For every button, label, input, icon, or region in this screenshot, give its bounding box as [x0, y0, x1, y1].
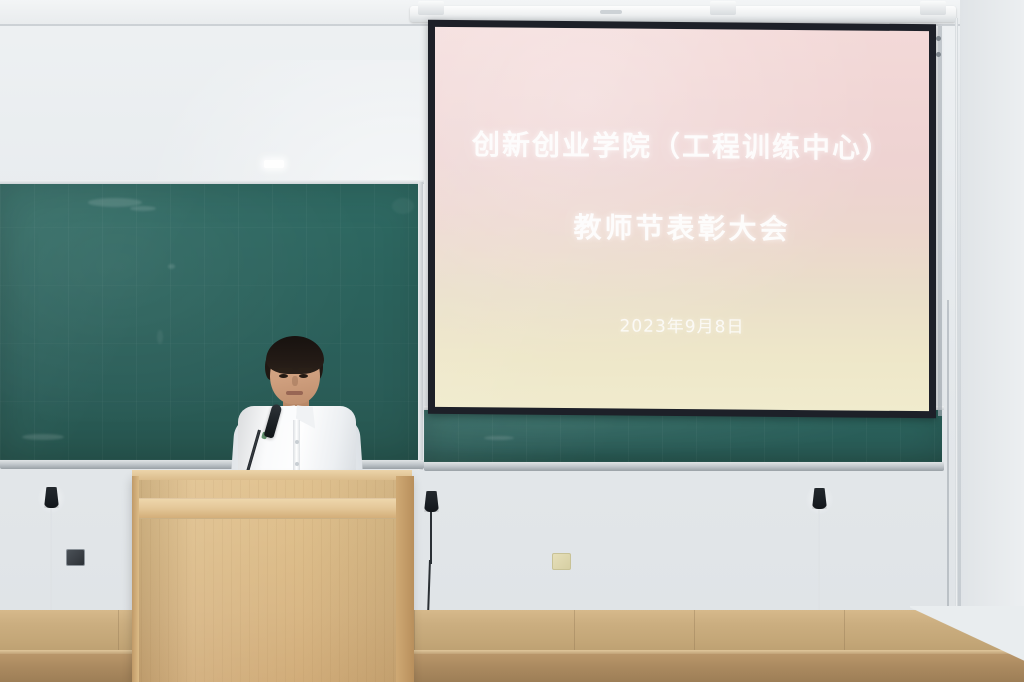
wall-outlet-right[interactable]: [552, 553, 571, 570]
podium-left-edge: [132, 476, 139, 682]
screen-side-rail: [938, 26, 942, 416]
wall-reflection-highlight: [264, 160, 284, 168]
screen-bracket-right: [920, 1, 946, 15]
nose: [292, 376, 298, 386]
eye-right: [299, 374, 308, 378]
wall-conduit-right: [955, 18, 958, 616]
chalk-smudge: [130, 206, 156, 211]
eye-left: [279, 374, 288, 378]
screen-rail-fastener: [936, 52, 941, 57]
projection-screen[interactable]: 创新创业学院（工程训练中心） 教师节表彰大会 2023年9月8日: [428, 20, 936, 418]
wall-speaker-left: [44, 487, 59, 508]
slide-date: 2023年9月8日: [435, 310, 929, 339]
podium-right-face: [396, 476, 414, 682]
shirt-button: [295, 462, 299, 466]
wall-corner-edge: [958, 0, 961, 620]
podium-top-cap: [132, 470, 412, 480]
slide-title-line-1: 创新创业学院（工程训练中心）: [435, 123, 929, 167]
right-wall-panel: [960, 0, 1024, 640]
hair: [266, 336, 324, 374]
wall-conduit-right-secondary: [947, 300, 949, 616]
stage-angled-corner: [910, 606, 1024, 682]
screen-bracket-center: [710, 1, 736, 15]
speaker-cable-center-upper: [430, 512, 432, 564]
screen-bracket-left: [418, 1, 444, 15]
chalk-smudge: [168, 264, 175, 269]
podium-trim-band: [132, 498, 412, 519]
speaker-cable-right: [818, 509, 820, 619]
wall-speaker-right: [812, 488, 827, 509]
eyebrow-left: [278, 368, 293, 371]
mouth: [286, 391, 303, 395]
speaker-cable-left: [50, 508, 52, 618]
screen-rail-fastener: [936, 36, 941, 41]
screen-housing-seam: [600, 10, 622, 14]
classroom-photo-scene: 创新创业学院（工程训练中心） 教师节表彰大会 2023年9月8日: [0, 0, 1024, 682]
chalk-smudge: [392, 198, 414, 214]
chalkboard-right: [424, 410, 942, 462]
shirt-button: [295, 440, 299, 444]
eyebrow-right: [298, 368, 313, 371]
chalk-smudge: [484, 436, 514, 440]
slide-title-line-2: 教师节表彰大会: [435, 205, 929, 249]
wall-outlet-left[interactable]: [66, 549, 85, 566]
chalkboard-frame-right: [418, 182, 423, 470]
projection-screen-surface: 创新创业学院（工程训练中心） 教师节表彰大会 2023年9月8日: [435, 27, 929, 411]
wall-speaker-center: [424, 491, 439, 512]
chalk-smudge: [157, 330, 163, 344]
chalkboard-tray-right: [424, 462, 944, 471]
chalk-smudge: [22, 434, 64, 440]
